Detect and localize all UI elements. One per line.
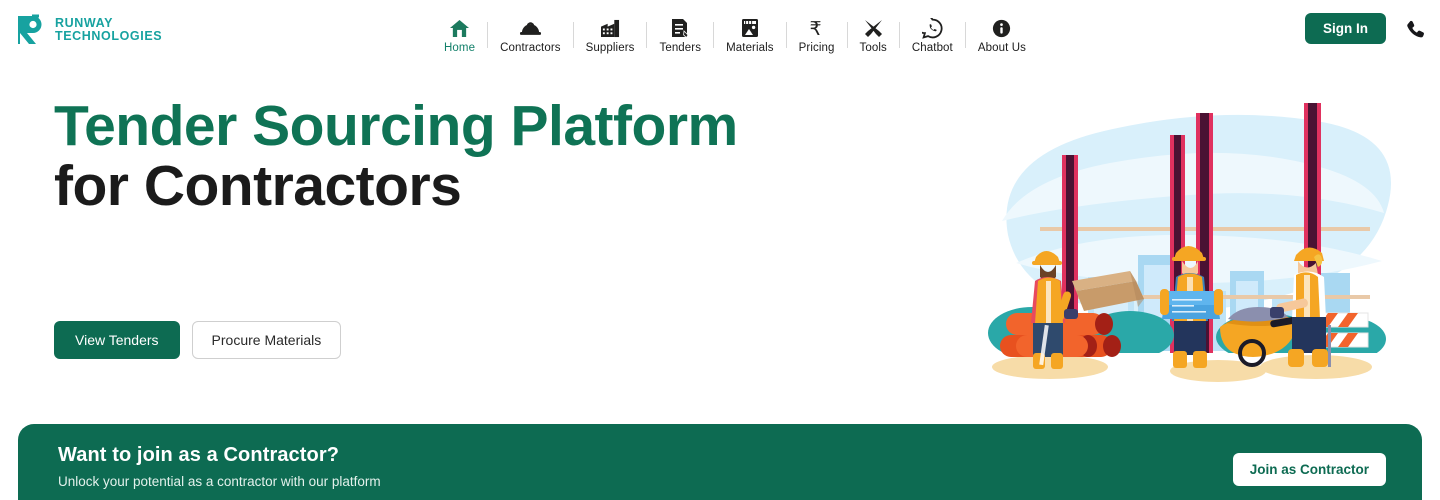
nav-label: Tenders <box>659 42 701 54</box>
site-header: RUNWAY TECHNOLOGIES Home <box>0 0 1440 60</box>
main-navigation: Home Contractors <box>432 6 1038 54</box>
nav-item-pricing[interactable]: ₹ Pricing <box>787 10 847 54</box>
home-icon <box>449 17 470 39</box>
join-contractor-banner: Want to join as a Contractor? Unlock you… <box>18 424 1422 500</box>
construction-workers-illustration <box>980 95 1400 395</box>
nav-label: Chatbot <box>912 42 953 54</box>
sign-in-button[interactable]: Sign In <box>1305 13 1386 44</box>
banner-title: Want to join as a Contractor? <box>58 444 339 467</box>
hero-text-block: Tender Sourcing Platform for Contractors <box>54 96 754 217</box>
page-title: Tender Sourcing Platform for Contractors <box>54 96 754 217</box>
phone-icon[interactable] <box>1402 16 1428 42</box>
tools-icon <box>863 17 884 39</box>
rupee-icon: ₹ <box>808 17 825 39</box>
info-icon <box>992 17 1011 39</box>
nav-label: About Us <box>978 42 1026 54</box>
nav-label: Pricing <box>799 42 835 54</box>
nav-item-about-us[interactable]: About Us <box>966 10 1038 54</box>
nav-item-tools[interactable]: Tools <box>848 10 899 54</box>
nav-label: Contractors <box>500 42 561 54</box>
chat-icon <box>922 17 943 39</box>
brand-name-line2: TECHNOLOGIES <box>55 30 162 43</box>
svg-text:₹: ₹ <box>810 19 822 38</box>
nav-item-tenders[interactable]: Tenders <box>647 10 713 54</box>
nav-item-home[interactable]: Home <box>432 10 487 54</box>
nav-item-contractors[interactable]: Contractors <box>488 10 573 54</box>
landing-page: RUNWAY TECHNOLOGIES Home <box>0 0 1440 500</box>
nav-label: Tools <box>860 42 887 54</box>
procure-materials-button[interactable]: Procure Materials <box>192 321 342 359</box>
document-edit-icon <box>670 17 690 39</box>
view-tenders-button[interactable]: View Tenders <box>54 321 180 359</box>
nav-item-materials[interactable]: Materials <box>714 10 786 54</box>
join-as-contractor-button[interactable]: Join as Contractor <box>1233 453 1386 486</box>
nav-label: Suppliers <box>586 42 635 54</box>
hero-title-accent: Tender Sourcing Platform <box>54 94 738 158</box>
factory-icon <box>599 17 622 39</box>
hero-actions: View Tenders Procure Materials <box>54 321 341 359</box>
runway-r-logo-icon <box>14 13 48 47</box>
materials-icon <box>740 17 760 39</box>
nav-label: Home <box>444 42 475 54</box>
banner-subtitle: Unlock your potential as a contractor wi… <box>58 474 381 489</box>
nav-label: Materials <box>726 42 774 54</box>
brand-logo[interactable]: RUNWAY TECHNOLOGIES <box>14 13 162 47</box>
hero-title-rest: for Contractors <box>54 154 461 218</box>
nav-item-chatbot[interactable]: Chatbot <box>900 10 965 54</box>
nav-item-suppliers[interactable]: Suppliers <box>574 10 647 54</box>
hardhat-icon <box>519 17 542 39</box>
